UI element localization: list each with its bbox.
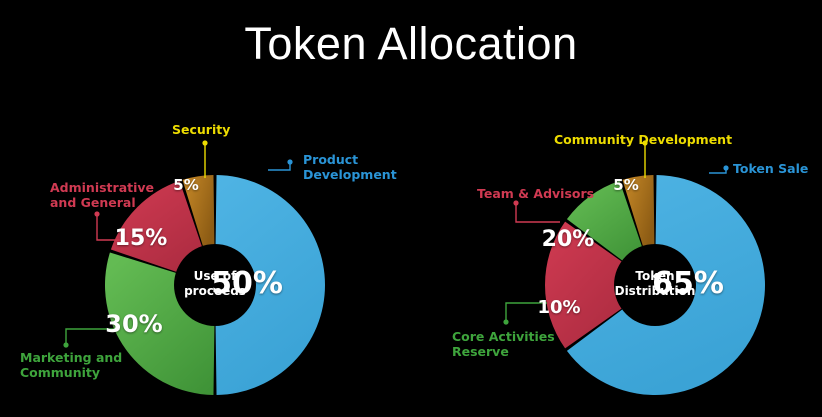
slice-label-team-and-advisors[interactable]: Team & Advisors (477, 186, 594, 201)
leader-line-product-development (268, 162, 290, 170)
leader-dot-marketing-and-community (63, 342, 68, 347)
leader-dot-team-and-advisors (513, 200, 518, 205)
leader-dot-core-activities-reserve (503, 319, 508, 324)
slice-label-core-activities-reserve[interactable]: Core Activities Reserve (452, 329, 555, 359)
leader-line-token-sale (709, 168, 726, 173)
leader-line-team-and-advisors (516, 203, 560, 222)
slice-value-security: 5% (146, 176, 226, 194)
slice-label-security[interactable]: Security (172, 122, 230, 137)
donut-center-label-token-distribution: Token Distribution (600, 269, 710, 299)
slice-value-team-and-advisors: 20% (528, 227, 608, 252)
slice-label-marketing-and-community[interactable]: Marketing and Community (20, 350, 122, 380)
slice-value-core-activities-reserve: 10% (519, 297, 599, 318)
slice-label-community-development[interactable]: Community Development (554, 132, 732, 147)
leader-dot-security (202, 140, 207, 145)
leader-dot-administrative-and-general (94, 211, 99, 216)
slice-value-community-development: 5% (586, 176, 666, 194)
slice-label-administrative-and-general[interactable]: Administrative and General (50, 180, 154, 210)
slice-label-token-sale[interactable]: Token Sale (733, 161, 808, 176)
leader-dot-product-development (287, 159, 292, 164)
token-allocation-infographic: Token Allocation 50%Product Developme (0, 0, 822, 417)
slice-value-administrative-and-general: 15% (101, 226, 181, 251)
slice-label-product-development[interactable]: Product Development (303, 152, 397, 182)
donut-center-label-use-of-proceeds: Use of proceeds (160, 269, 270, 299)
leader-dot-token-sale (723, 165, 728, 170)
slice-value-marketing-and-community: 30% (94, 310, 174, 338)
